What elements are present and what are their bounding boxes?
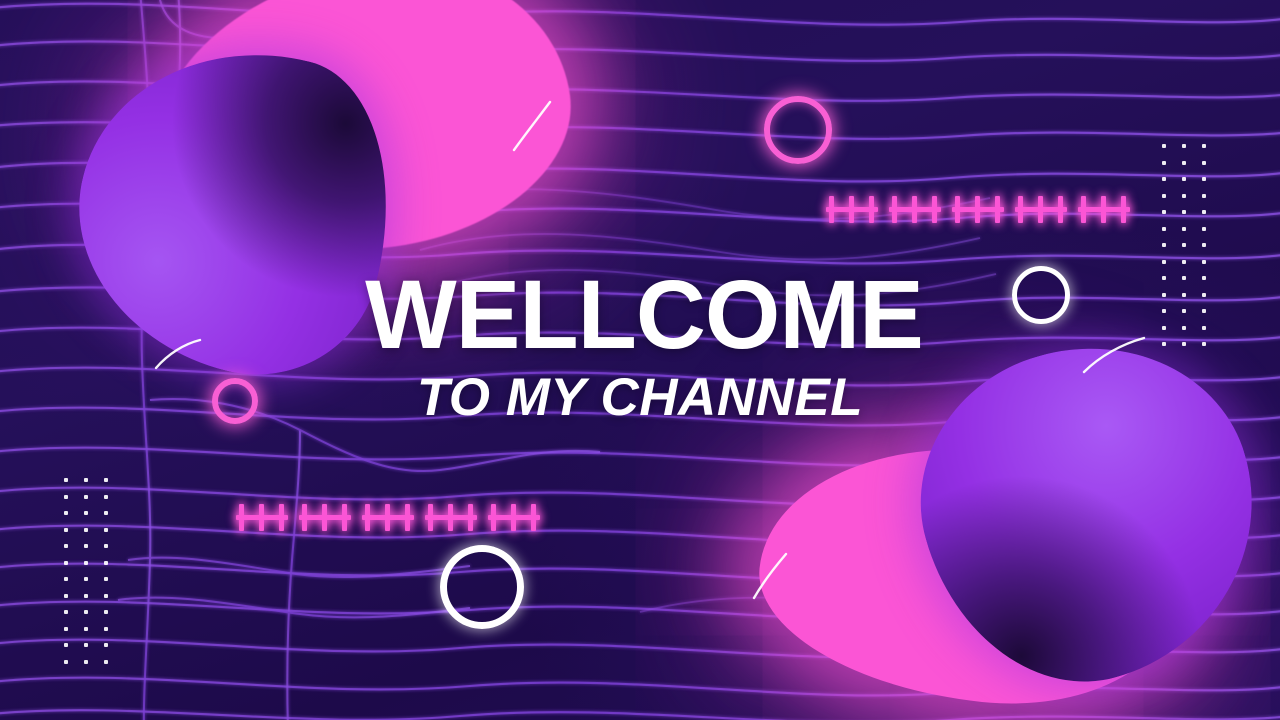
tally-group xyxy=(826,196,878,222)
tally-group xyxy=(299,504,351,530)
ring-pink-left xyxy=(212,378,258,424)
tally-group xyxy=(425,504,477,530)
ring-white-bottom xyxy=(440,545,524,629)
tally-bottom-left xyxy=(236,504,540,530)
tally-group xyxy=(362,504,414,530)
ring-pink-top-right xyxy=(764,96,832,164)
tally-group xyxy=(1078,196,1130,222)
swoosh-right xyxy=(1078,332,1158,380)
tally-group xyxy=(1015,196,1067,222)
tally-group xyxy=(236,504,288,530)
tally-group xyxy=(952,196,1004,222)
dot-grid-left xyxy=(64,478,124,676)
banner-canvas: WELLCOME TO MY CHANNEL xyxy=(0,0,1280,720)
tally-group xyxy=(889,196,941,222)
swoosh-top-left xyxy=(498,92,568,162)
swoosh-bottom-left xyxy=(742,548,802,606)
swoosh-mid-left xyxy=(150,330,220,380)
dot-grid-right xyxy=(1162,144,1222,359)
tally-top-right xyxy=(826,196,1130,222)
tally-group xyxy=(488,504,540,530)
ring-white-right xyxy=(1012,266,1070,324)
